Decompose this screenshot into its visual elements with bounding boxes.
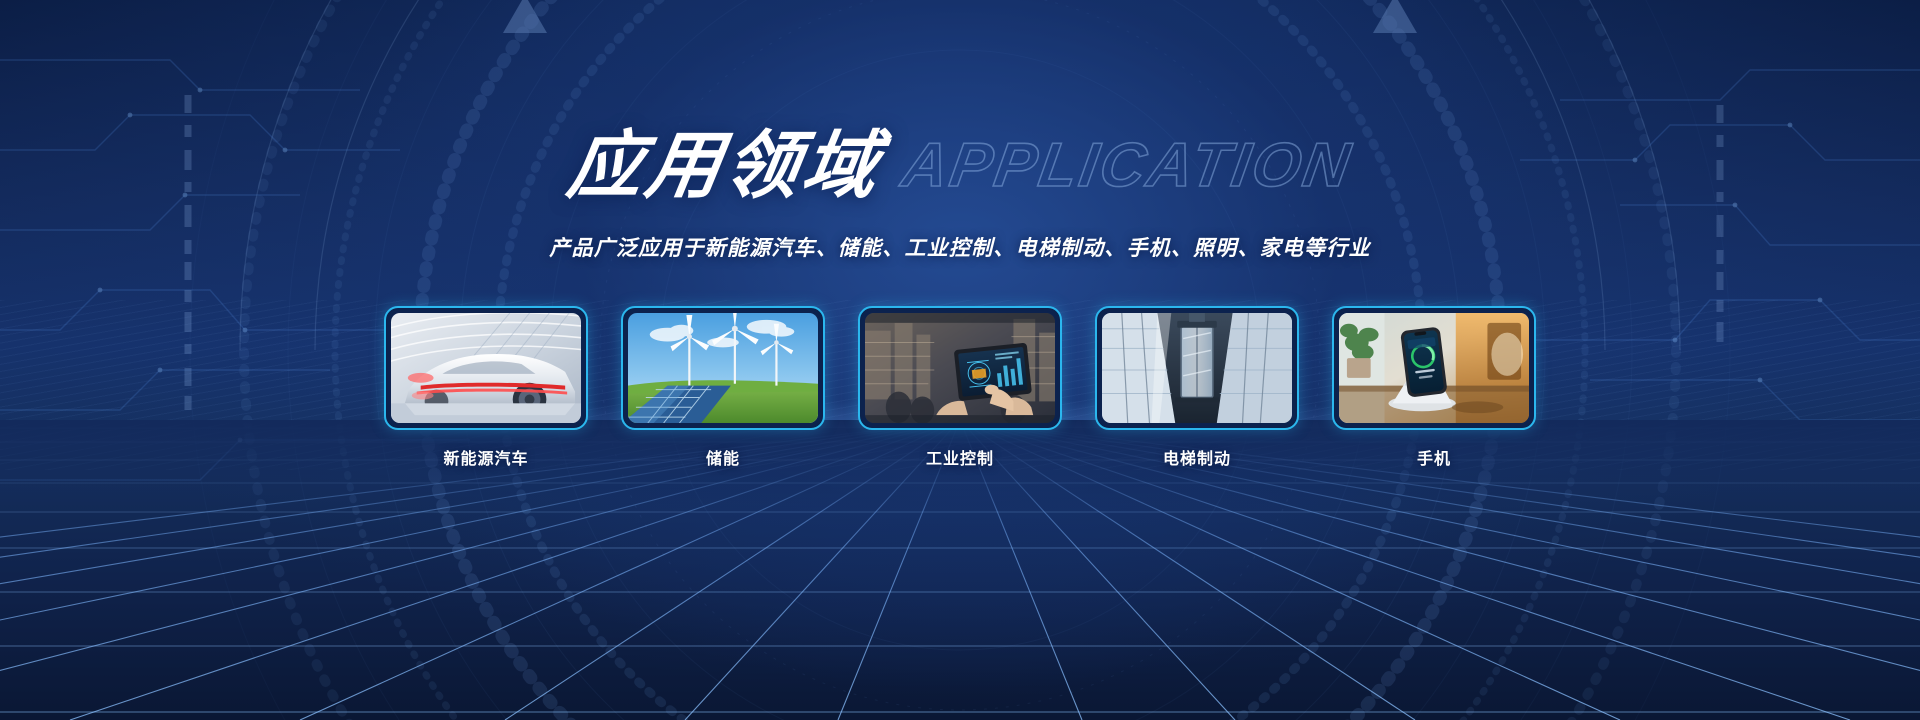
card-label: 新能源汽车 bbox=[384, 445, 588, 469]
page-title: 应用领域 bbox=[561, 118, 888, 214]
application-card[interactable]: 储能 bbox=[621, 306, 825, 469]
application-banner: 应用领域APPLICATION 产品广泛应用于新能源汽车、储能、工业控制、电梯制… bbox=[0, 0, 1920, 720]
card-frame[interactable] bbox=[1332, 306, 1536, 430]
industrial-control-tablet-photo bbox=[865, 313, 1055, 423]
card-frame[interactable] bbox=[858, 306, 1062, 430]
application-card-list: 新能源汽车 bbox=[0, 306, 1920, 469]
page-title-english: APPLICATION bbox=[895, 118, 1359, 214]
card-frame[interactable] bbox=[384, 306, 588, 430]
application-card[interactable]: 新能源汽车 bbox=[384, 306, 588, 469]
smartphone-wireless-charger-photo bbox=[1339, 313, 1529, 423]
title-row: 应用领域APPLICATION bbox=[569, 118, 1352, 214]
card-frame[interactable] bbox=[621, 306, 825, 430]
application-card[interactable]: 工业控制 bbox=[858, 306, 1062, 469]
application-card[interactable]: 手机 bbox=[1332, 306, 1536, 469]
card-label: 工业控制 bbox=[858, 445, 1062, 469]
page-subtitle: 产品广泛应用于新能源汽车、储能、工业控制、电梯制动、手机、照明、家电等行业 bbox=[0, 232, 1920, 262]
card-label: 手机 bbox=[1332, 445, 1536, 469]
banner-header: 应用领域APPLICATION 产品广泛应用于新能源汽车、储能、工业控制、电梯制… bbox=[0, 118, 1920, 262]
elevator-shaft-photo bbox=[1102, 313, 1292, 423]
card-label: 储能 bbox=[621, 445, 825, 469]
wind-turbines-solar-panels-photo bbox=[628, 313, 818, 423]
card-frame[interactable] bbox=[1095, 306, 1299, 430]
electric-sports-car-photo bbox=[391, 313, 581, 423]
card-label: 电梯制动 bbox=[1095, 445, 1299, 469]
application-card[interactable]: 电梯制动 bbox=[1095, 306, 1299, 469]
